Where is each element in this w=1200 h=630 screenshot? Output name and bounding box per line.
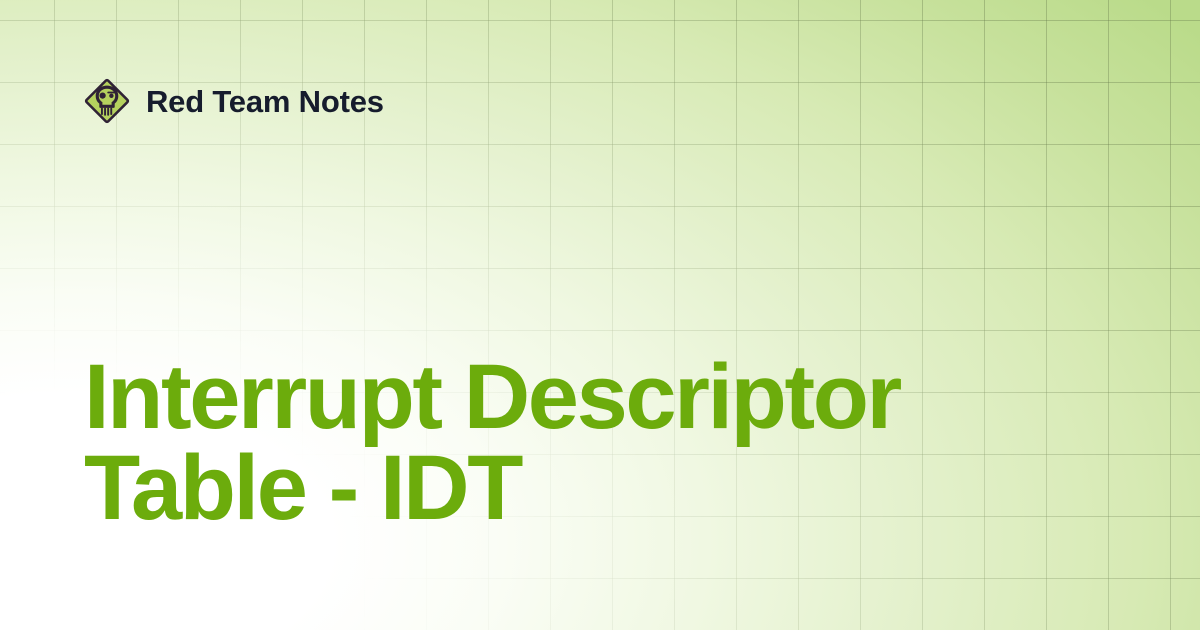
- og-card: Red Team Notes Interrupt Descriptor Tabl…: [0, 0, 1200, 630]
- brand-lockup: Red Team Notes: [84, 76, 384, 126]
- brand-name: Red Team Notes: [146, 86, 384, 117]
- page-title: Interrupt Descriptor Table - IDT: [84, 352, 984, 534]
- skull-diamond-icon: [84, 76, 130, 126]
